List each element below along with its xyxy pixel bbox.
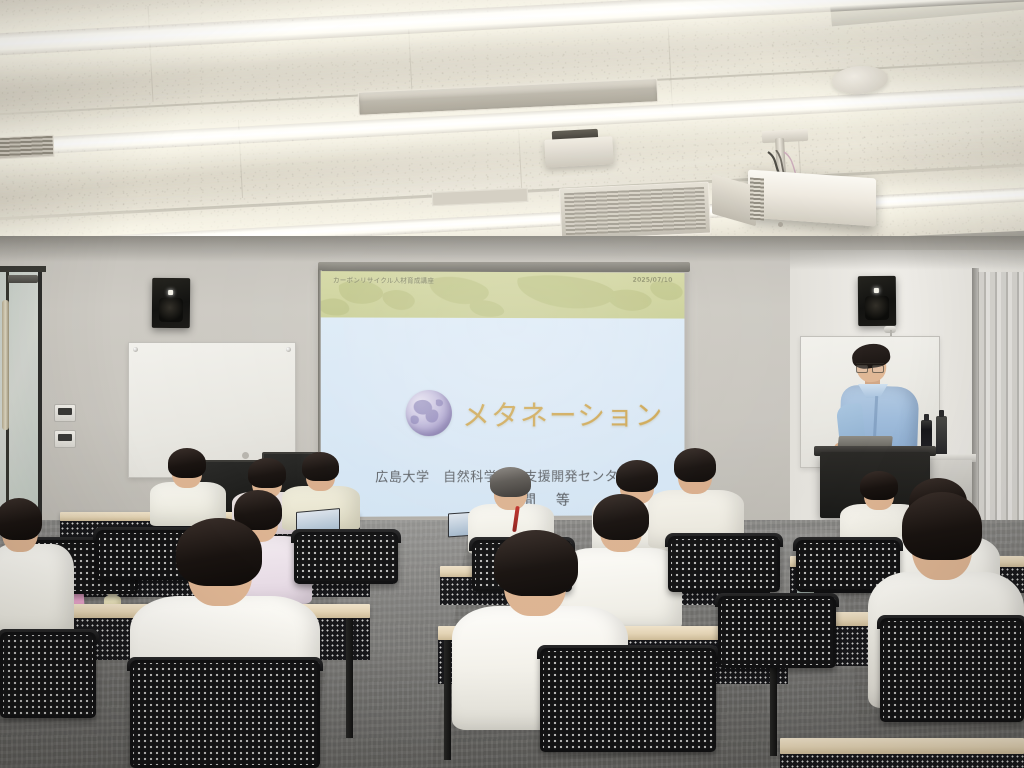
chair-backrest <box>718 596 836 668</box>
door-closer <box>8 275 38 283</box>
attendee-hair <box>490 467 531 497</box>
speaker-led-icon <box>168 290 173 295</box>
chair[interactable] <box>130 660 320 768</box>
glasses-icon <box>856 363 884 370</box>
projector-mount-plate <box>762 129 809 143</box>
whiteboard-mount <box>133 347 138 352</box>
attendee-hair <box>674 448 716 482</box>
right-wall-shadow <box>790 250 1024 270</box>
door-frame <box>0 266 46 272</box>
desk-modesty-panel <box>780 754 1024 768</box>
globe-icon <box>406 390 452 436</box>
attendee-hair <box>302 452 339 481</box>
wall-speaker-left <box>152 278 190 328</box>
attendee-hair <box>0 498 42 540</box>
chair[interactable] <box>880 618 1024 722</box>
projector-body: EPSON <box>748 170 876 227</box>
ceiling-sensor-box <box>544 136 613 168</box>
attendee-hair <box>168 448 206 478</box>
slide-title: メタネーション <box>462 394 663 434</box>
chair-backrest <box>668 536 780 592</box>
ceiling-vent <box>0 135 54 160</box>
chair-backrest <box>540 648 716 752</box>
chair-backrest <box>880 618 1024 722</box>
list-item <box>0 500 74 630</box>
wall-control-panel[interactable] <box>54 404 76 422</box>
chair[interactable] <box>540 648 716 752</box>
attendee-hair <box>176 518 262 586</box>
globe-landmass <box>406 390 452 436</box>
attendee-hair <box>248 458 286 488</box>
wall-control-panel[interactable] <box>54 430 76 448</box>
attendee-hair <box>494 530 578 596</box>
slide-date: 2025/07/10 <box>633 276 673 286</box>
attendee-shirt <box>0 544 74 636</box>
slide-course-title: カーボンリサイクル人材育成講座 <box>333 274 434 285</box>
whiteboard-mount <box>286 347 291 352</box>
chair-backrest <box>130 660 320 768</box>
chair-backrest <box>0 632 96 718</box>
desk-leg <box>444 640 451 760</box>
slide-header-band: カーボンリサイクル人材育成講座 2025/07/10 <box>321 271 685 319</box>
hvac-ceiling-cassette <box>559 182 711 241</box>
speaker-led-icon <box>874 288 879 293</box>
wall-fixture <box>242 452 249 459</box>
projector-vent-grille <box>750 178 764 221</box>
chair[interactable] <box>718 596 836 668</box>
chair[interactable] <box>0 632 96 718</box>
wall-speaker-right <box>858 276 896 326</box>
projector-foot <box>778 222 783 227</box>
chair[interactable] <box>668 536 780 592</box>
hvac-grille <box>564 187 706 235</box>
desk-row-frontmost <box>780 738 1024 754</box>
slide-header-row: カーボンリサイクル人材育成講座 2025/07/10 <box>321 274 685 286</box>
lecture-room-photo: EPSON <box>0 0 1024 768</box>
desk-leg <box>346 618 353 738</box>
ceiling-projector: EPSON <box>700 130 880 240</box>
door-handle[interactable] <box>2 300 9 430</box>
bottle-item <box>936 416 947 458</box>
attendee-hair <box>902 492 982 560</box>
